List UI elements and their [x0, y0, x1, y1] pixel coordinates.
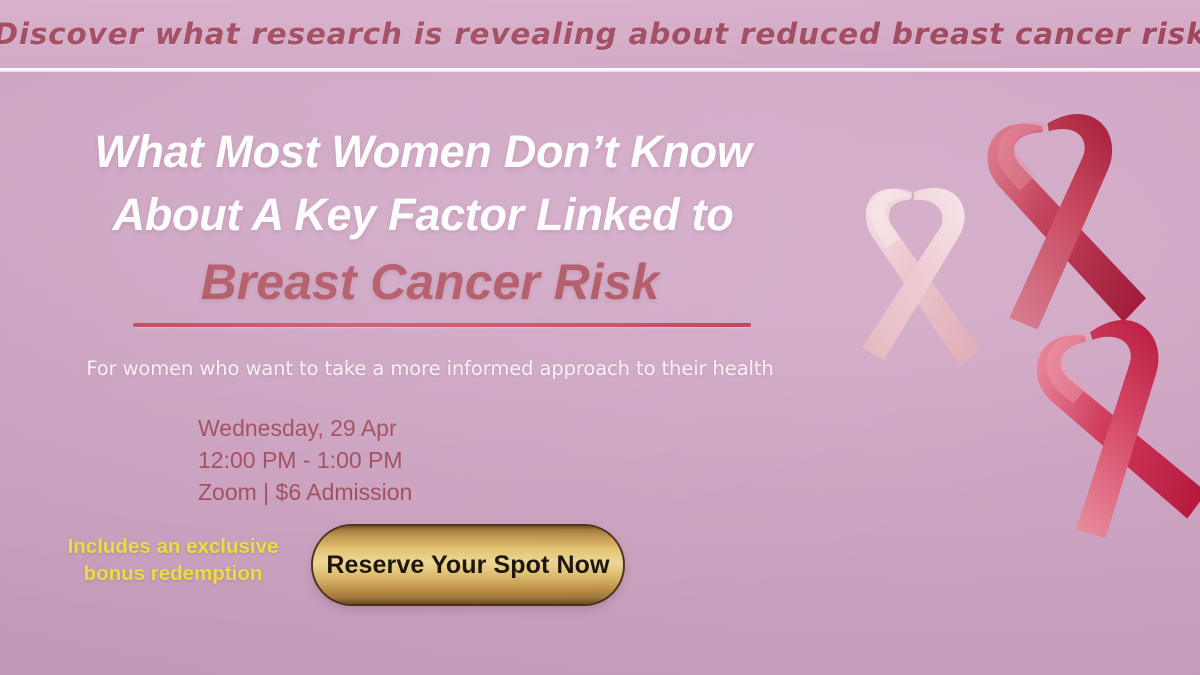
reserve-spot-label: Reserve Your Spot Now [326, 551, 609, 580]
headline-divider [133, 323, 751, 327]
headline-line-2: About A Key Factor Linked to [0, 183, 860, 246]
page-title: What Most Women Don’t Know About A Key F… [0, 120, 860, 318]
event-time: 12:00 PM - 1:00 PM [198, 444, 628, 476]
event-platform-price: Zoom | $6 Admission [198, 476, 628, 508]
event-promo-poster: Discover what research is revealing abou… [0, 0, 1200, 675]
headline-line-1: What Most Women Don’t Know [0, 120, 860, 183]
event-details: Wednesday, 29 Apr 12:00 PM - 1:00 PM Zoo… [198, 412, 628, 508]
subheading: For women who want to take a more inform… [0, 357, 860, 380]
banner-tagline: Discover what research is revealing abou… [0, 17, 1200, 51]
headline-line-3-accent: Breast Cancer Risk [0, 246, 860, 318]
event-date: Wednesday, 29 Apr [198, 412, 628, 444]
reserve-spot-button[interactable]: Reserve Your Spot Now [313, 526, 623, 604]
bonus-note: Includes an exclusive bonus redemption [48, 533, 298, 587]
bonus-line-2: bonus redemption [48, 560, 298, 587]
bonus-line-1: Includes an exclusive [48, 533, 298, 560]
top-banner: Discover what research is revealing abou… [0, 0, 1200, 68]
content-column: What Most Women Don’t Know About A Key F… [0, 72, 860, 675]
